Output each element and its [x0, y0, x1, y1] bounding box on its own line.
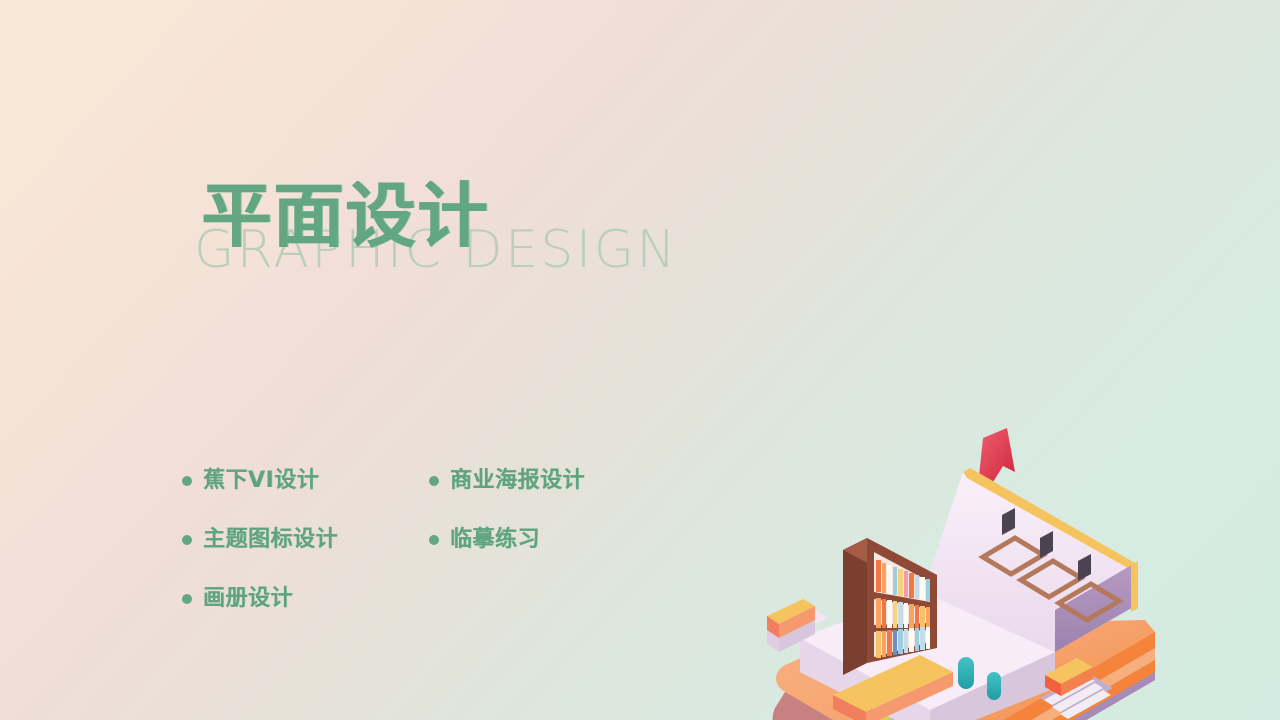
bullet-dot-icon: [429, 535, 439, 545]
bullet-label: 主题图标设计: [203, 529, 338, 551]
isometric-books-illustration: [715, 420, 1190, 720]
title-chinese-text: 平面设计: [202, 175, 490, 257]
text-block: GRAPHIC DESIGN 平面设计: [186, 176, 706, 294]
title-group: GRAPHIC DESIGN 平面设计: [186, 176, 706, 294]
bullet-list: 蕉下VI设计 商业海报设计 主题图标设计 临摹练习 画册设计: [182, 470, 652, 647]
bullet-label: 蕉下VI设计: [203, 470, 319, 492]
red-bookmark-ribbon: [979, 428, 1015, 482]
bullet-label: 画册设计: [203, 588, 293, 610]
bullet-row: 主题图标设计 临摹练习: [182, 529, 652, 588]
bullet-row: 蕉下VI设计 商业海报设计: [182, 470, 652, 529]
bullet-item-5[interactable]: 画册设计: [182, 588, 429, 610]
bullet-dot-icon: [182, 594, 192, 604]
bullet-item-3[interactable]: 主题图标设计: [182, 529, 429, 551]
bullet-dot-icon: [182, 535, 192, 545]
bullet-item-1[interactable]: 蕉下VI设计: [182, 470, 429, 492]
bullet-row: 画册设计: [182, 588, 652, 647]
bullet-item-2[interactable]: 商业海报设计: [429, 470, 585, 492]
bullet-dot-icon: [429, 476, 439, 486]
bullet-dot-icon: [182, 476, 192, 486]
bullet-label: 临摹练习: [450, 529, 540, 551]
bullet-label: 商业海报设计: [450, 470, 585, 492]
slide-canvas: GRAPHIC DESIGN 平面设计 蕉下VI设计 商业海报设计 主题图标设计: [0, 0, 1280, 720]
title-chinese: 平面设计: [202, 180, 490, 254]
bullet-item-4[interactable]: 临摹练习: [429, 529, 540, 551]
open-book-top: [767, 428, 1138, 720]
